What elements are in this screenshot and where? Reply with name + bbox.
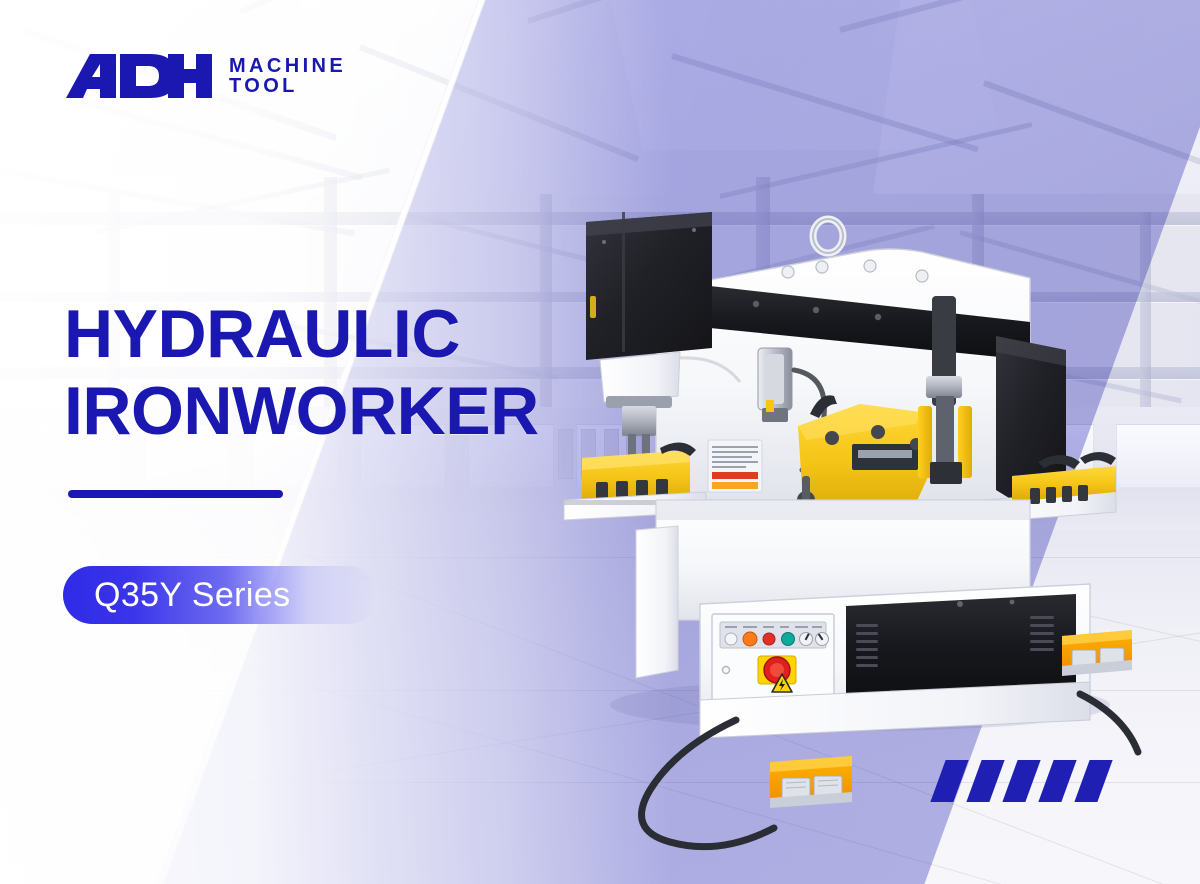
warning-decal (708, 440, 762, 492)
lifting-eye (813, 219, 843, 253)
motor-barrel (600, 352, 680, 402)
headline-line-1: HYDRAULIC (64, 296, 539, 373)
selector-knob-1 (800, 633, 813, 646)
brand-line-1: MACHINE (229, 56, 346, 76)
headline-line-2: IRONWORKER (64, 373, 539, 450)
indicator-green (782, 633, 795, 646)
hydraulic-ironworker-machine (560, 200, 1200, 820)
indicator-red (763, 633, 775, 645)
motor-housing (586, 212, 712, 360)
indicator-white (725, 633, 737, 645)
stripe (1038, 760, 1076, 802)
stripe (1002, 760, 1040, 802)
main-cabinet (700, 584, 1090, 738)
punch-ram (622, 406, 656, 460)
foot-pedal-left (770, 756, 852, 808)
brand-logo[interactable]: MACHINE TOOL (64, 52, 346, 100)
adh-logo-mark-icon (64, 52, 214, 100)
selector-knob-2 (816, 633, 829, 646)
series-badge-label: Q35Y Series (94, 576, 291, 615)
brand-line-2: TOOL (229, 76, 346, 96)
pedestal-left-leg (636, 526, 678, 678)
stripe (966, 760, 1004, 802)
page-title: HYDRAULIC IRONWORKER (64, 296, 539, 450)
series-badge: Q35Y Series (63, 566, 378, 624)
pedestal-shadow (656, 500, 1030, 520)
emergency-stop-button (758, 656, 796, 684)
brand-wordmark: MACHINE TOOL (229, 56, 346, 97)
title-divider (68, 490, 283, 498)
indicator-orange (743, 632, 757, 646)
hydraulic-cylinder (758, 348, 792, 422)
decorative-stripes (938, 760, 1105, 802)
foot-pedal-right (1062, 630, 1132, 676)
promo-banner: MACHINE TOOL HYDRAULIC IRONWORKER Q35Y S… (0, 0, 1200, 884)
